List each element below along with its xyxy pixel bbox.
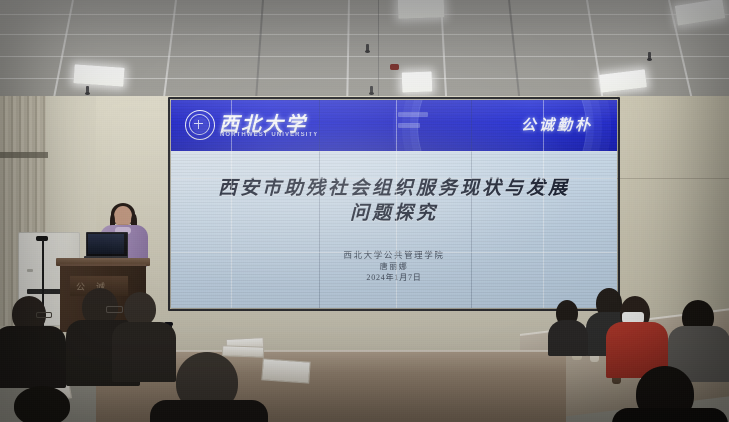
slide-date: 2024年1月7日 [171,272,617,284]
wall-slat-trim [0,152,48,158]
attendee-body [150,400,268,422]
slide-header-band: 西北大学 NORTHWEST UNIVERSITY 公诚勤朴 [171,100,617,151]
slide-title-line2: 问题探究 [171,201,617,226]
slide-body: 西安市助残社会组织服务现状与发展 问题探究 西北大学公共管理学院 唐丽娜 202… [171,151,617,308]
attendee-body [612,408,728,422]
slide-affiliation: 西北大学公共管理学院 [171,249,617,261]
sprinkler-icon [86,86,89,94]
slide-presenter-name: 唐丽娜 [171,261,617,272]
laptop-screen [88,234,124,254]
conference-room-photo: 西北大学 NORTHWEST UNIVERSITY 公诚勤朴 西安市助残社会组织… [0,0,729,422]
smoke-detector-icon [390,64,399,70]
slide-title: 西安市助残社会组织服务现状与发展 问题探究 [171,176,617,226]
header-sheen [171,100,617,151]
attendee-glasses-icon [36,312,52,318]
presentation-screen: 西北大学 NORTHWEST UNIVERSITY 公诚勤朴 西安市助残社会组织… [171,100,617,308]
sprinkler-icon [366,44,369,52]
attendee-body [548,320,588,356]
sprinkler-icon [370,86,373,94]
ceiling-light-icon [675,0,726,26]
attendee-head [124,292,156,326]
sprinkler-icon [648,52,651,60]
ceiling-light-icon [599,69,647,92]
ceiling-light-icon [402,71,433,92]
slide-subtitle: 西北大学公共管理学院 唐丽娜 2024年1月7日 [171,249,617,284]
attendee-head [14,386,70,422]
document-sheet [261,358,310,383]
ceiling [0,0,729,104]
ceiling-light-icon [73,64,124,86]
attendee-body [0,326,66,388]
ceiling-light-icon [398,0,445,19]
document-stack [222,345,264,357]
attendee-body [112,322,176,382]
attendee-glasses-icon [106,306,123,313]
slide-title-line1: 西安市助残社会组织服务现状与发展 [171,176,617,201]
